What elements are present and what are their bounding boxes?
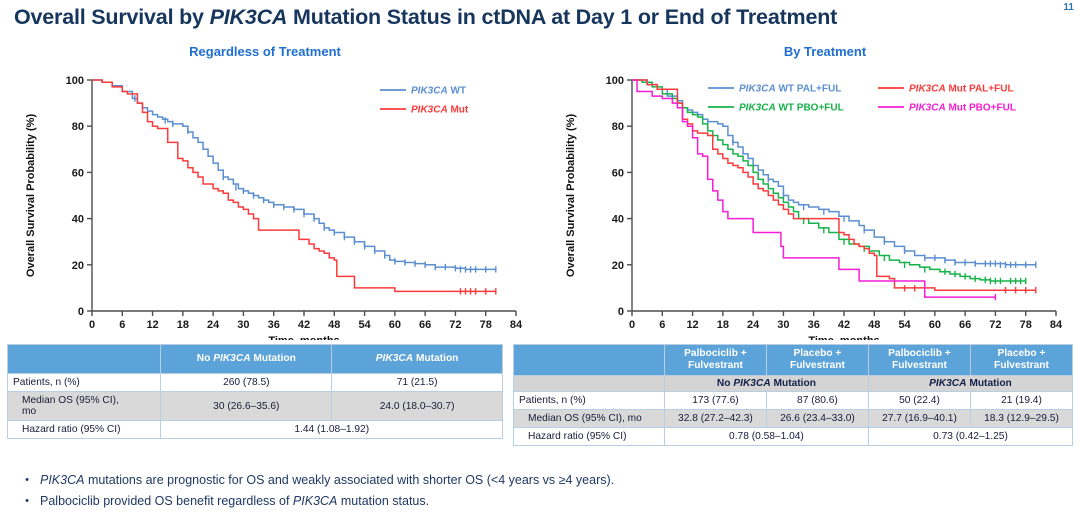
table-header-row: Palbociclib +FulvestrantPlacebo +Fulvest… xyxy=(514,345,1073,376)
table-cell: 50 (22.4) xyxy=(868,392,970,410)
svg-text:80: 80 xyxy=(72,121,84,133)
table-header-cell: PIK3CA Mutation xyxy=(332,345,503,374)
table-group-blank xyxy=(514,376,665,392)
svg-text:54: 54 xyxy=(898,319,911,331)
svg-text:60: 60 xyxy=(72,167,84,179)
table-cell: 26.6 (23.4–33.0) xyxy=(766,410,868,428)
svg-text:24: 24 xyxy=(207,319,220,331)
table-header-row: No PIK3CA MutationPIK3CA Mutation xyxy=(8,345,503,374)
bullet-dot-icon: • xyxy=(14,491,40,512)
table-cell: 21 (19.4) xyxy=(970,392,1072,410)
table-cell: 0.78 (0.58–1.04) xyxy=(664,428,868,446)
legend-left: PIK3CA WTPIK3CA Mut xyxy=(380,86,469,116)
svg-text:40: 40 xyxy=(72,214,84,226)
list-item: •Palbociclib provided OS benefit regardl… xyxy=(14,491,1064,512)
table-group-header: No PIK3CA Mutation xyxy=(664,376,868,392)
summary-table-by-treatment: Palbociclib +FulvestrantPlacebo +Fulvest… xyxy=(513,344,1073,446)
table-cell: 18.3 (12.9–29.5) xyxy=(970,410,1072,428)
svg-text:6: 6 xyxy=(659,319,665,331)
title-gene: PIK3CA xyxy=(210,5,288,29)
chart-right-subtitle: By Treatment xyxy=(680,44,970,59)
svg-text:Time, months: Time, months xyxy=(808,335,879,340)
svg-text:42: 42 xyxy=(838,319,850,331)
svg-text:48: 48 xyxy=(328,319,340,331)
svg-text:0: 0 xyxy=(618,306,624,318)
svg-text:60: 60 xyxy=(929,319,941,331)
table-header-cell: No PIK3CA Mutation xyxy=(161,345,332,374)
svg-text:72: 72 xyxy=(449,319,461,331)
svg-text:100: 100 xyxy=(606,75,624,87)
list-item-text: Palbociclib provided OS benefit regardle… xyxy=(40,491,1064,512)
svg-text:36: 36 xyxy=(268,319,280,331)
page-title: Overall Survival by PIK3CA Mutation Stat… xyxy=(14,4,1054,30)
table-header-cell: Palbociclib +Fulvestrant xyxy=(664,345,766,376)
svg-text:0: 0 xyxy=(78,306,84,318)
table-row-label: Patients, n (%) xyxy=(8,374,161,392)
svg-text:18: 18 xyxy=(177,319,189,331)
svg-text:84: 84 xyxy=(510,319,523,331)
svg-text:40: 40 xyxy=(612,214,624,226)
table-row: Hazard ratio (95% CI)1.44 (1.08–1.92) xyxy=(8,421,503,439)
svg-text:60: 60 xyxy=(612,167,624,179)
legend-label-3: PIK3CA Mut PBO+FUL xyxy=(909,103,1016,114)
table-cell: 87 (80.6) xyxy=(766,392,868,410)
table-header-cell: Palbociclib +Fulvestrant xyxy=(868,345,970,376)
svg-text:6: 6 xyxy=(119,319,125,331)
svg-text:12: 12 xyxy=(146,319,158,331)
svg-text:0: 0 xyxy=(89,319,95,331)
svg-text:78: 78 xyxy=(1020,319,1032,331)
svg-text:Time, months: Time, months xyxy=(268,335,339,340)
list-item-text: PIK3CA mutations are prognostic for OS a… xyxy=(40,470,1064,491)
svg-text:24: 24 xyxy=(747,319,760,331)
km-plot-left: 0204060801000612182430364248546066727884… xyxy=(0,62,540,340)
svg-text:60: 60 xyxy=(389,319,401,331)
svg-text:36: 36 xyxy=(808,319,820,331)
svg-text:30: 30 xyxy=(777,319,789,331)
table-row-label: Hazard ratio (95% CI) xyxy=(514,428,665,446)
table-row: Patients, n (%)260 (78.5)71 (21.5) xyxy=(8,374,503,392)
svg-text:42: 42 xyxy=(298,319,310,331)
table-row-label: Hazard ratio (95% CI) xyxy=(8,421,161,439)
table-header-cell: Placebo +Fulvestrant xyxy=(766,345,868,376)
legend-label-1: PIK3CA WT PBO+FUL xyxy=(739,103,844,114)
svg-text:54: 54 xyxy=(358,319,371,331)
table-row-label: Median OS (95% CI),mo xyxy=(8,392,161,421)
legend-right: PIK3CA WT PAL+FULPIK3CA WT PBO+FULPIK3CA… xyxy=(708,84,1016,114)
legend-label-2: PIK3CA Mut PAL+FUL xyxy=(909,84,1014,95)
svg-text:12: 12 xyxy=(686,319,698,331)
svg-text:0: 0 xyxy=(629,319,635,331)
table-row: Median OS (95% CI),mo30 (26.6–35.6)24.0 … xyxy=(8,392,503,421)
table-header-cell: Placebo +Fulvestrant xyxy=(970,345,1072,376)
table-row: Median OS (95% CI), mo32.8 (27.2–42.3)26… xyxy=(514,410,1073,428)
svg-text:78: 78 xyxy=(480,319,492,331)
key-findings-list: •PIK3CA mutations are prognostic for OS … xyxy=(14,470,1064,512)
table-cell: 30 (26.6–35.6) xyxy=(161,392,332,421)
svg-text:66: 66 xyxy=(959,319,971,331)
table-cell: 173 (77.6) xyxy=(664,392,766,410)
legend-label-0: PIK3CA WT xyxy=(411,86,466,97)
bullet-dot-icon: • xyxy=(14,470,40,491)
km-chart-by-treatment: 0204060801000612182430364248546066727884… xyxy=(540,62,1080,340)
table-cell: 27.7 (16.9–40.1) xyxy=(868,410,970,428)
chart-left-subtitle: Regardless of Treatment xyxy=(120,44,410,59)
svg-text:20: 20 xyxy=(612,260,624,272)
table-cell: 0.73 (0.42–1.25) xyxy=(868,428,1072,446)
svg-text:30: 30 xyxy=(237,319,249,331)
km-plot-right: 0204060801000612182430364248546066727884… xyxy=(540,62,1080,340)
svg-text:100: 100 xyxy=(66,75,84,87)
list-item: •PIK3CA mutations are prognostic for OS … xyxy=(14,470,1064,491)
legend-label-0: PIK3CA WT PAL+FUL xyxy=(739,84,841,95)
svg-text:84: 84 xyxy=(1050,319,1063,331)
svg-text:Overall Survival Probability (: Overall Survival Probability (%) xyxy=(565,114,577,278)
table-cell: 1.44 (1.08–1.92) xyxy=(161,421,503,439)
svg-text:Overall Survival Probability (: Overall Survival Probability (%) xyxy=(25,114,37,278)
svg-text:48: 48 xyxy=(868,319,880,331)
table-row-label: Patients, n (%) xyxy=(514,392,665,410)
table-cell: 24.0 (18.0–30.7) xyxy=(332,392,503,421)
table-row-label: Median OS (95% CI), mo xyxy=(514,410,665,428)
svg-text:72: 72 xyxy=(989,319,1001,331)
table-cell: 71 (21.5) xyxy=(332,374,503,392)
summary-table-regardless-of-treatment: No PIK3CA MutationPIK3CA MutationPatient… xyxy=(7,344,503,439)
title-suffix: Mutation Status in ctDNA at Day 1 or End… xyxy=(287,5,837,29)
svg-text:80: 80 xyxy=(612,121,624,133)
title-prefix: Overall Survival by xyxy=(14,5,210,29)
table-cell: 32.8 (27.2–42.3) xyxy=(664,410,766,428)
table-group-header: PIK3CA Mutation xyxy=(868,376,1072,392)
table-row: Hazard ratio (95% CI)0.78 (0.58–1.04)0.7… xyxy=(514,428,1073,446)
table-group-header-row: No PIK3CA MutationPIK3CA Mutation xyxy=(514,376,1073,392)
table-header-cell xyxy=(514,345,665,376)
km-chart-regardless-of-treatment: 0204060801000612182430364248546066727884… xyxy=(0,62,540,340)
table-row: Patients, n (%)173 (77.6)87 (80.6)50 (22… xyxy=(514,392,1073,410)
table-header-cell xyxy=(8,345,161,374)
legend-label-1: PIK3CA Mut xyxy=(411,105,469,116)
slide-number: 11 xyxy=(1063,2,1074,13)
table-cell: 260 (78.5) xyxy=(161,374,332,392)
svg-text:66: 66 xyxy=(419,319,431,331)
svg-text:20: 20 xyxy=(72,260,84,272)
svg-text:18: 18 xyxy=(717,319,729,331)
